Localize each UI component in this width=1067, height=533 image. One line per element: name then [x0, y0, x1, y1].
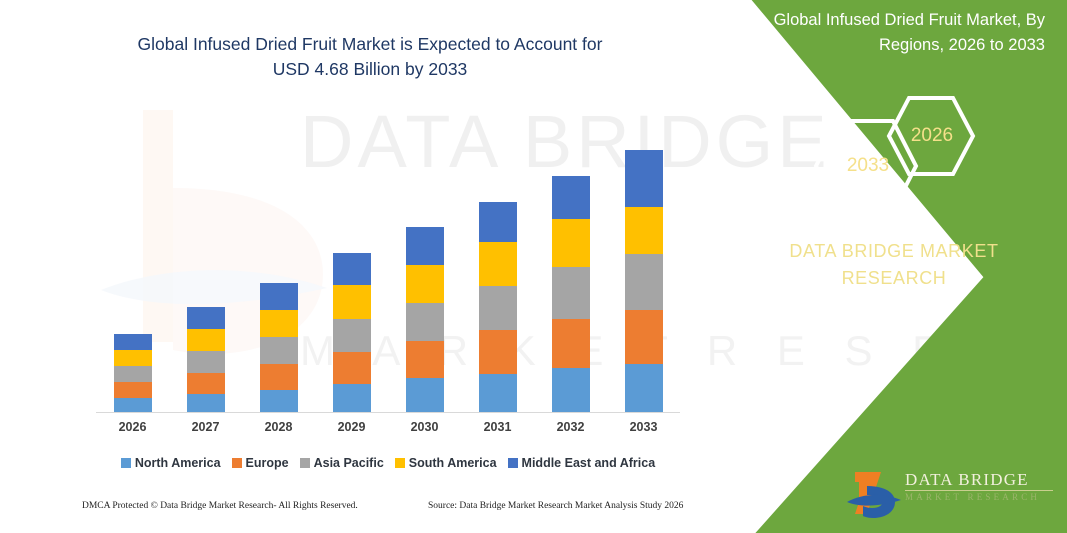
bar-segment-middle-east-and-africa [187, 307, 225, 329]
x-axis-tick-2026: 2026 [96, 420, 169, 434]
stacked-bar [260, 283, 298, 412]
bar-segment-north-america [187, 394, 225, 412]
bar-segment-north-america [114, 398, 152, 412]
legend-swatch-icon [508, 458, 518, 468]
legend-item-south-america[interactable]: South America [395, 456, 497, 470]
bar-segment-europe [114, 382, 152, 398]
bar-column-2030 [388, 120, 461, 412]
brand-line-1: DATA BRIDGE MARKET [754, 238, 1034, 265]
stacked-bar [333, 253, 371, 412]
bar-segment-middle-east-and-africa [114, 334, 152, 350]
x-axis-labels: 20262027202820292030203120322033 [96, 420, 680, 434]
bar-segment-south-america [479, 242, 517, 286]
hexagon-group: 2033 2026 [812, 95, 1012, 215]
bar-segment-south-america [187, 329, 225, 351]
bar-segment-asia-pacific [552, 267, 590, 319]
x-axis-tick-2031: 2031 [461, 420, 534, 434]
bar-segment-europe [479, 330, 517, 374]
x-axis-tick-2032: 2032 [534, 420, 607, 434]
x-axis-tick-2029: 2029 [315, 420, 388, 434]
bar-segment-middle-east-and-africa [260, 283, 298, 310]
stacked-bar [406, 227, 444, 412]
green-panel-title-line-1: Global Infused Dried Fruit Market, By [727, 8, 1045, 33]
bar-segment-asia-pacific [260, 337, 298, 364]
stacked-bar [625, 150, 663, 412]
bar-column-2026 [96, 120, 169, 412]
bar-segment-asia-pacific [333, 319, 371, 352]
bar-segment-asia-pacific [479, 286, 517, 330]
hexagon-2026-label: 2026 [908, 125, 956, 147]
bar-segment-north-america [479, 374, 517, 412]
logo-title: DATA BRIDGE [905, 470, 1055, 490]
legend-swatch-icon [121, 458, 131, 468]
bar-segment-asia-pacific [187, 351, 225, 373]
chart-panel: Global Infused Dried Fruit Market is Exp… [0, 0, 760, 533]
legend-label: Middle East and Africa [522, 456, 656, 470]
footer-source: Source: Data Bridge Market Research Mark… [428, 501, 683, 511]
x-axis-tick-2033: 2033 [607, 420, 680, 434]
chart-title-line-2: USD 4.68 Billion by 2033 [60, 57, 680, 82]
stacked-bar [552, 176, 590, 412]
bar-segment-south-america [625, 207, 663, 254]
bar-segment-asia-pacific [406, 303, 444, 342]
bar-segment-south-america [260, 310, 298, 337]
brand-line-2: RESEARCH [754, 265, 1034, 292]
legend-item-middle-east-and-africa[interactable]: Middle East and Africa [508, 456, 656, 470]
legend-label: Europe [246, 456, 289, 470]
chart-legend: North AmericaEuropeAsia PacificSouth Ame… [96, 456, 680, 470]
bar-segment-north-america [552, 368, 590, 412]
bar-segment-europe [625, 310, 663, 364]
bar-segment-europe [333, 352, 371, 384]
legend-label: South America [409, 456, 497, 470]
bar-segment-europe [260, 364, 298, 390]
bar-column-2032 [534, 120, 607, 412]
x-axis-tick-2027: 2027 [169, 420, 242, 434]
stacked-bar [479, 202, 517, 412]
logo-subtitle: MARKET RESEARCH [905, 492, 1055, 502]
legend-item-north-america[interactable]: North America [121, 456, 221, 470]
infographic-canvas: DATA BRIDGE M A R K E T R E S E A R C H … [0, 0, 1067, 533]
bar-segment-north-america [625, 364, 663, 412]
bar-segment-middle-east-and-africa [479, 202, 517, 242]
bar-segment-north-america [260, 390, 298, 412]
bar-column-2029 [315, 120, 388, 412]
axis-baseline [96, 412, 680, 413]
x-axis-tick-2028: 2028 [242, 420, 315, 434]
logo-mark-icon [847, 468, 903, 522]
bar-segment-south-america [406, 265, 444, 303]
bar-segment-north-america [406, 378, 444, 412]
bar-column-2031 [461, 120, 534, 412]
brand-name: DATA BRIDGE MARKET RESEARCH [754, 238, 1034, 292]
bar-segment-middle-east-and-africa [333, 253, 371, 285]
x-axis-tick-2030: 2030 [388, 420, 461, 434]
legend-label: North America [135, 456, 221, 470]
legend-label: Asia Pacific [314, 456, 384, 470]
company-logo: DATA BRIDGE MARKET RESEARCH [847, 466, 1057, 524]
bar-segment-asia-pacific [114, 366, 152, 382]
bar-segment-north-america [333, 384, 371, 412]
bar-segment-south-america [114, 350, 152, 366]
bar-segment-middle-east-and-africa [406, 227, 444, 265]
chart-title-line-1: Global Infused Dried Fruit Market is Exp… [60, 32, 680, 57]
bar-segment-south-america [333, 285, 371, 318]
legend-item-europe[interactable]: Europe [232, 456, 289, 470]
bar-segment-asia-pacific [625, 254, 663, 310]
bar-segment-middle-east-and-africa [625, 150, 663, 207]
legend-swatch-icon [300, 458, 310, 468]
bar-column-2028 [242, 120, 315, 412]
bar-segment-europe [552, 319, 590, 368]
bar-segment-europe [187, 373, 225, 394]
bar-segment-europe [406, 341, 444, 378]
bar-segment-south-america [552, 219, 590, 267]
bar-segment-middle-east-and-africa [552, 176, 590, 219]
footer-copyright: DMCA Protected © Data Bridge Market Rese… [82, 501, 358, 511]
bar-column-2033 [607, 120, 680, 412]
green-panel-title-line-2: Regions, 2026 to 2033 [727, 33, 1045, 58]
stacked-bar [114, 334, 152, 412]
legend-swatch-icon [395, 458, 405, 468]
legend-swatch-icon [232, 458, 242, 468]
logo-divider [905, 490, 1053, 491]
bar-series-group [96, 120, 680, 412]
legend-item-asia-pacific[interactable]: Asia Pacific [300, 456, 384, 470]
bar-column-2027 [169, 120, 242, 412]
chart-title: Global Infused Dried Fruit Market is Exp… [60, 32, 680, 83]
green-panel-title: Global Infused Dried Fruit Market, By Re… [727, 8, 1045, 58]
stacked-bar [187, 307, 225, 412]
